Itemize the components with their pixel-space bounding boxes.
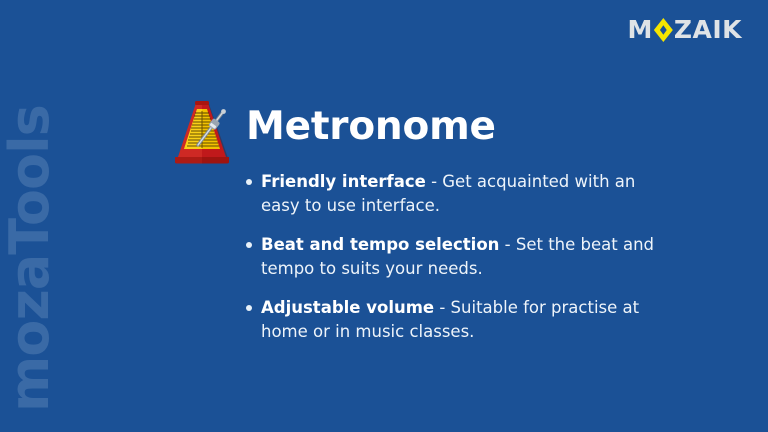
metronome-icon [168, 100, 234, 166]
watermark-text: mozaTools [0, 105, 60, 412]
diamond-icon [654, 18, 673, 42]
list-item: Friendly interface - Get acquainted with… [246, 170, 666, 218]
slide-canvas: mozaTools M ZAIK [0, 0, 768, 432]
feature-lead: Adjustable volume [261, 298, 434, 317]
feature-list: Friendly interface - Get acquainted with… [246, 170, 666, 344]
page-title: Metronome [246, 104, 496, 150]
list-item: Adjustable volume - Suitable for practis… [246, 296, 666, 344]
logo-text-right: ZAIK [674, 17, 742, 43]
mozaik-logo: M ZAIK [627, 17, 742, 43]
headline: Metronome [168, 98, 728, 168]
content-block: Metronome Friendly interface - Get acqua… [168, 98, 728, 168]
watermark: mozaTools [0, 0, 60, 432]
bullet-dot-icon [246, 179, 252, 185]
list-item: Beat and tempo selection - Set the beat … [246, 233, 666, 281]
feature-lead: Friendly interface [261, 172, 426, 191]
bullet-dot-icon [246, 242, 252, 248]
logo-text-left: M [627, 17, 652, 43]
bullet-dot-icon [246, 305, 252, 311]
feature-lead: Beat and tempo selection [261, 235, 499, 254]
